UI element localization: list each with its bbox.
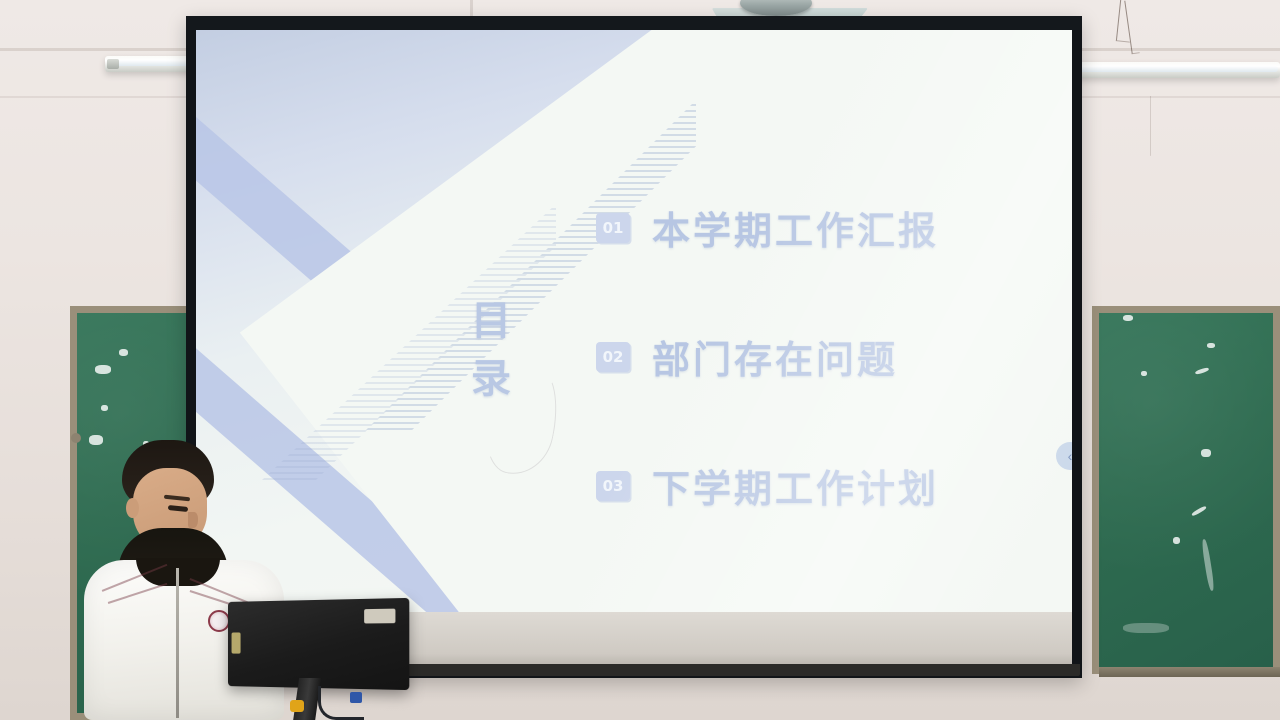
person-jacket-zipper <box>176 568 179 718</box>
toc-item-number-badge: 02 <box>596 342 630 372</box>
toc-item-number-badge: 01 <box>596 213 630 243</box>
slide-contents-list: 01 本学期工作汇报 02 部门存在问题 03 下学期工作计划 <box>596 200 1046 513</box>
chalk-mark <box>1123 315 1133 321</box>
monitor-vga-plug-icon <box>350 692 362 703</box>
computer-monitor <box>222 600 412 720</box>
monitor-label-sticker <box>364 609 395 624</box>
projection-screen-surface: 目录 01 本学期工作汇报 02 部门存在问题 03 下学期工作计划 ‹ <box>196 30 1072 612</box>
toc-item: 01 本学期工作汇报 <box>596 200 1046 255</box>
chalk-mark <box>1173 537 1180 544</box>
chalk-mark <box>101 405 108 411</box>
toc-item: 02 部门存在问题 <box>596 329 1046 384</box>
monitor-side-sticker <box>232 632 241 653</box>
chalk-mark <box>119 349 128 356</box>
monitor-power-plug-icon <box>290 700 304 712</box>
hanging-wire <box>1150 96 1151 156</box>
toc-item-label: 下学期工作计划 <box>652 458 939 513</box>
slide-section-label: 目录 <box>464 292 520 408</box>
chalk-mark <box>1201 539 1215 591</box>
chalk-mark <box>1191 505 1207 516</box>
tube-cap <box>107 59 119 69</box>
toc-item-label: 本学期工作汇报 <box>652 200 939 255</box>
toc-item: 03 下学期工作计划 <box>596 458 1046 513</box>
chalk-tray <box>1099 667 1280 677</box>
chalk-mark <box>1201 449 1211 457</box>
person-ear <box>126 498 139 518</box>
toc-item-number-badge: 03 <box>596 471 630 501</box>
chalk-mark <box>1207 343 1215 348</box>
chalk-mark <box>95 365 111 374</box>
chalkboard-surface <box>1099 313 1273 667</box>
toc-item-label: 部门存在问题 <box>652 329 898 384</box>
projection-screen-top-bar <box>186 16 1082 30</box>
classroom-scene: 目录 01 本学期工作汇报 02 部门存在问题 03 下学期工作计划 ‹ <box>0 0 1280 720</box>
person-nose <box>188 512 198 528</box>
chalk-mark <box>1195 367 1210 375</box>
chalk-mark <box>1141 371 1147 376</box>
chalk-mark <box>1123 623 1169 633</box>
chalkboard-right <box>1092 306 1280 674</box>
presentation-slide: 目录 01 本学期工作汇报 02 部门存在问题 03 下学期工作计划 ‹ <box>196 30 1072 612</box>
monitor-rear-panel <box>228 598 409 690</box>
monitor-stand <box>293 678 321 720</box>
